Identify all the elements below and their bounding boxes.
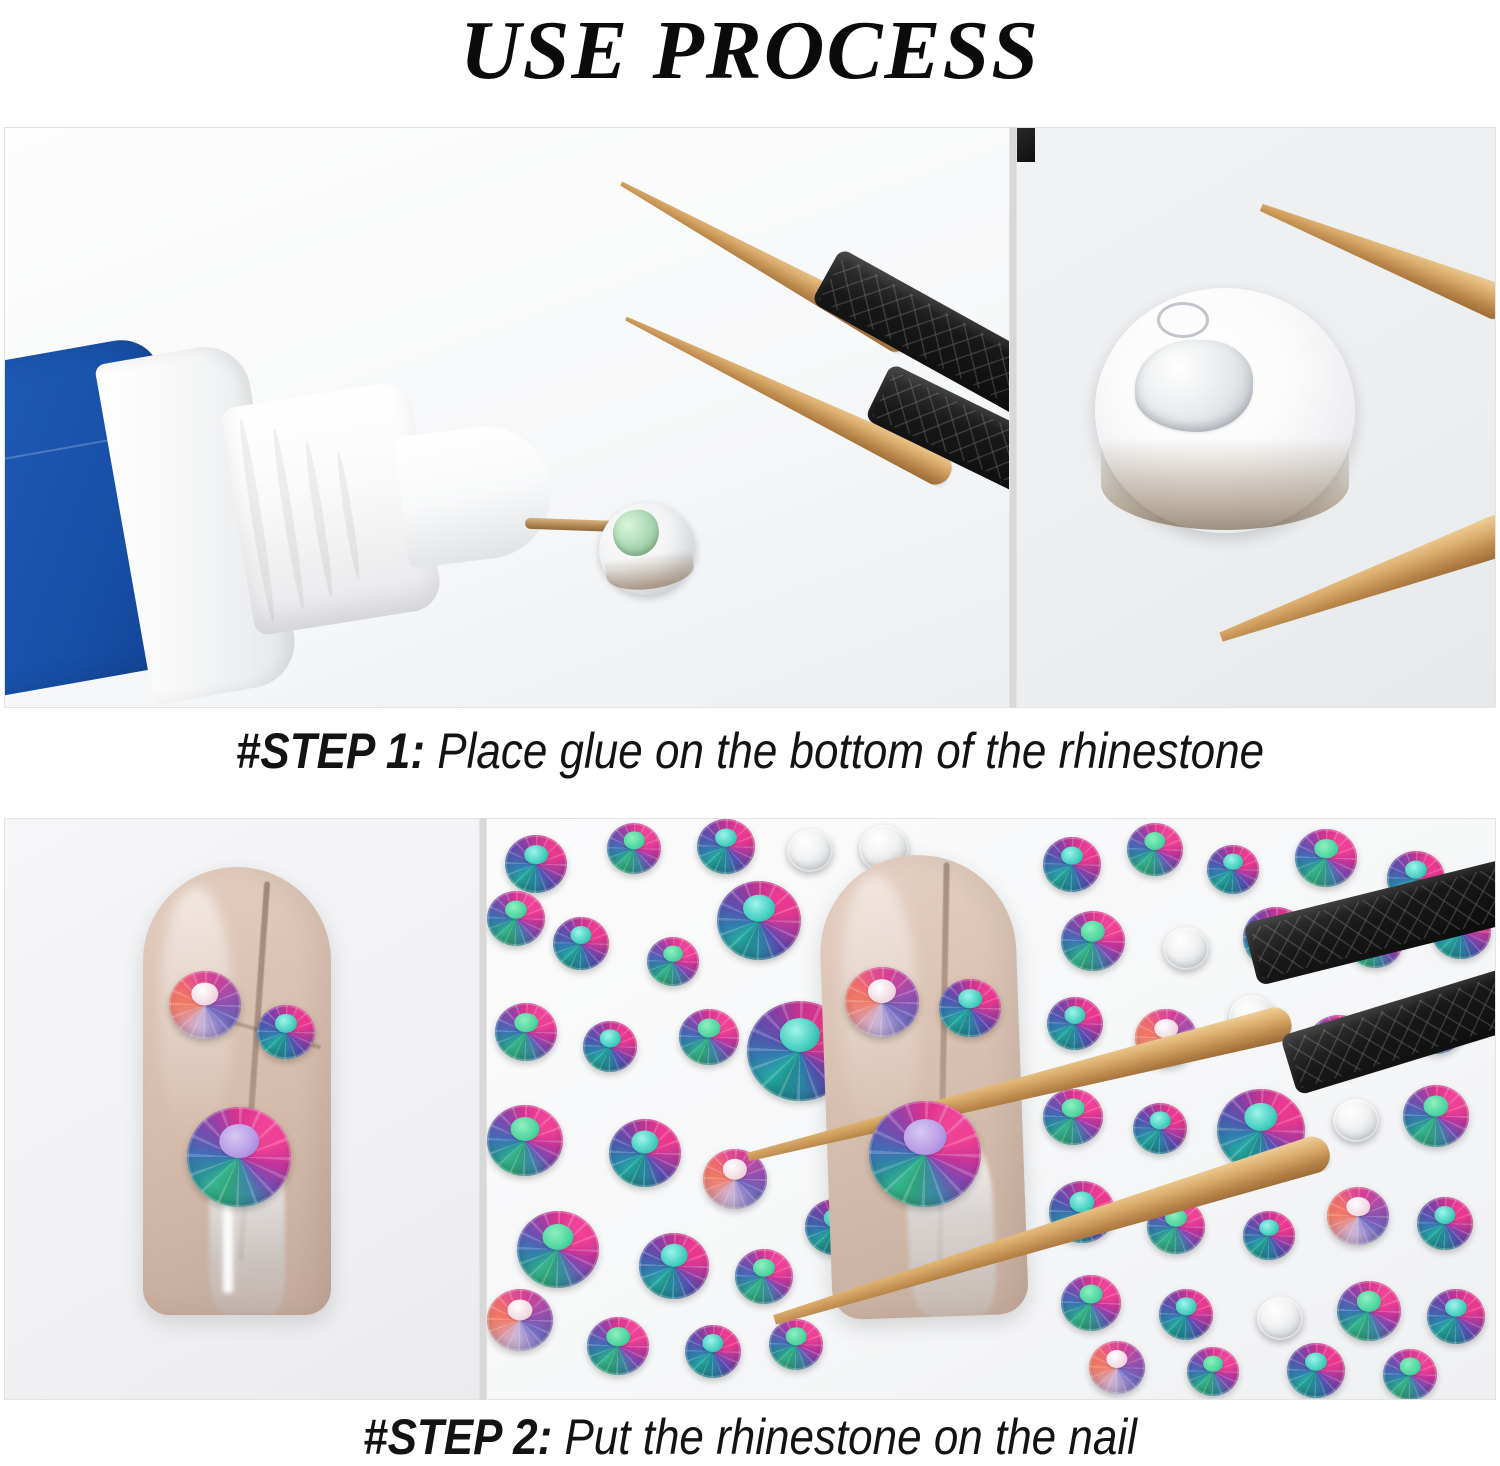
nail-rhinestone-large xyxy=(187,1107,291,1207)
rhinestone-gem xyxy=(487,1289,553,1351)
step-2-label: #STEP 2: xyxy=(363,1409,552,1465)
photo-corner-artifact xyxy=(1016,127,1035,162)
rhinestone-gem xyxy=(1295,829,1357,887)
tweezers-lower-arm-step2 xyxy=(749,1077,1496,1227)
title-bar: USE PROCESS xyxy=(0,0,1500,110)
rhinestone-gem xyxy=(647,937,699,986)
rhinestone-gem xyxy=(1383,1349,1437,1400)
tweezers-lower-tip xyxy=(1202,444,1496,584)
placed-rhinestone-large xyxy=(869,1101,981,1207)
rhinestone-gem xyxy=(1127,823,1183,876)
rhinestone-gem xyxy=(1159,1289,1213,1340)
rhinestone-gem xyxy=(1337,1281,1401,1341)
press-on-nail xyxy=(143,867,331,1315)
rhinestone-silver-back xyxy=(1257,1297,1303,1340)
placing-rhinestone-photo xyxy=(486,818,1496,1400)
rhinestone-gem xyxy=(697,819,755,874)
placed-rhinestone-teal xyxy=(939,979,1001,1037)
rhinestone-gem xyxy=(505,835,567,893)
rhinestone-gem xyxy=(735,1249,793,1304)
rhinestone-gem xyxy=(609,1119,681,1187)
rhinestone-gem xyxy=(487,1105,563,1176)
step-1-caption: #STEP 1: Place glue on the bottom of the… xyxy=(90,722,1410,780)
step-2-photo-row xyxy=(4,818,1496,1400)
rhinestone-gem xyxy=(607,823,661,874)
infographic-page: USE PROCESS xyxy=(0,0,1500,1466)
rhinestone-gem xyxy=(639,1233,709,1299)
rhinestone-gem xyxy=(769,1319,823,1370)
glue-bottle-and-tweezers-photo xyxy=(4,127,1010,708)
rhinestone-gem xyxy=(587,1317,649,1375)
step-2-text: Put the rhinestone on the nail xyxy=(552,1409,1137,1465)
tweezers-upper-tip xyxy=(1242,234,1496,354)
decorated-nail-photo xyxy=(4,818,480,1400)
rhinestone-gem xyxy=(583,1021,637,1072)
rhinestone-gem xyxy=(717,881,801,960)
rhinestone-silver-back xyxy=(787,829,833,872)
rhinestone-gem xyxy=(517,1211,599,1288)
step-1-text: Place glue on the bottom of the rhinesto… xyxy=(425,723,1264,779)
rhinestone-gem xyxy=(1207,845,1259,894)
rhinestone-gem xyxy=(1287,1343,1345,1398)
rhinestone-gem xyxy=(679,1009,739,1065)
rhinestone-gem xyxy=(553,917,609,970)
step-1-photo-row xyxy=(4,127,1496,708)
step-2-caption: #STEP 2: Put the rhinestone on the nail xyxy=(90,1408,1410,1466)
rhinestone-gem xyxy=(1427,1289,1485,1344)
page-title: USE PROCESS xyxy=(460,9,1040,93)
nail-rhinestone-small-warm xyxy=(169,971,241,1039)
placed-rhinestone-warm xyxy=(845,967,919,1037)
rhinestone-back-with-glue-photo xyxy=(1016,127,1496,708)
rhinestone-gem xyxy=(1187,1347,1239,1396)
rhinestone-gem xyxy=(487,891,545,946)
rhinestone-gem xyxy=(495,1003,557,1061)
nail-rhinestone-small-teal xyxy=(257,1005,315,1059)
glue-blob xyxy=(1135,340,1253,432)
rhinestone-gem xyxy=(685,1325,741,1378)
glue-bottle-tip xyxy=(394,419,559,568)
rhinestone-gem xyxy=(1043,837,1101,892)
rhinestone-gem xyxy=(1089,1341,1145,1394)
step-1-label: #STEP 1: xyxy=(236,723,425,779)
rhinestone-gem xyxy=(1061,1275,1121,1331)
